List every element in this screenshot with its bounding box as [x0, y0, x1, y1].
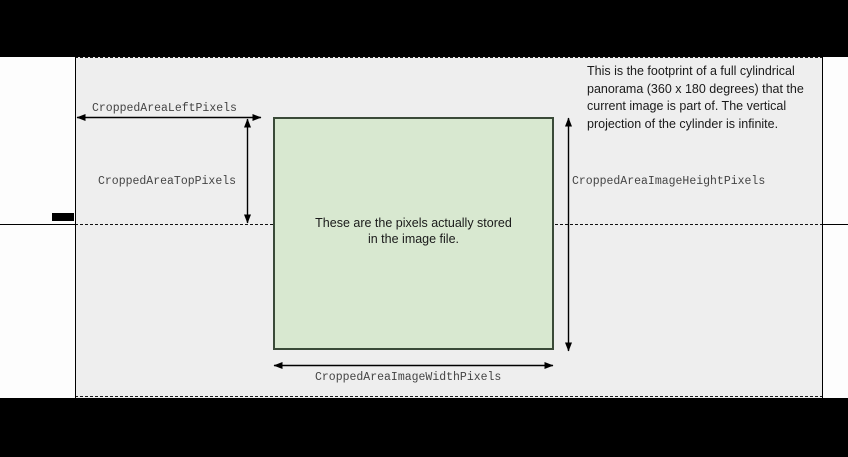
- label-cropped-area-image-width-pixels: CroppedAreaImageWidthPixels: [315, 371, 501, 384]
- footprint-top-edge: [75, 57, 823, 58]
- cropped-image-caption: These are the pixels actually stored in …: [275, 215, 552, 247]
- equator-solid-line-right: [822, 224, 848, 225]
- diagram-canvas: These are the pixels actually stored in …: [0, 0, 848, 457]
- equator-solid-line-left: [0, 224, 76, 225]
- equator-marker-block: [52, 213, 74, 221]
- label-cropped-area-top-pixels: CroppedAreaTopPixels: [98, 175, 236, 188]
- label-cropped-area-left-pixels: CroppedAreaLeftPixels: [92, 102, 237, 115]
- cropped-image-rect: These are the pixels actually stored in …: [273, 117, 554, 350]
- panorama-note-text: This is the footprint of a full cylindri…: [587, 63, 819, 133]
- footprint-right-edge: [822, 57, 823, 398]
- cropped-caption-line-1: These are the pixels actually stored: [275, 215, 552, 231]
- footprint-left-edge: [75, 57, 76, 398]
- footprint-bottom-edge: [75, 396, 823, 397]
- label-cropped-area-image-height-pixels: CroppedAreaImageHeightPixels: [572, 175, 765, 188]
- cropped-caption-line-2: in the image file.: [275, 231, 552, 247]
